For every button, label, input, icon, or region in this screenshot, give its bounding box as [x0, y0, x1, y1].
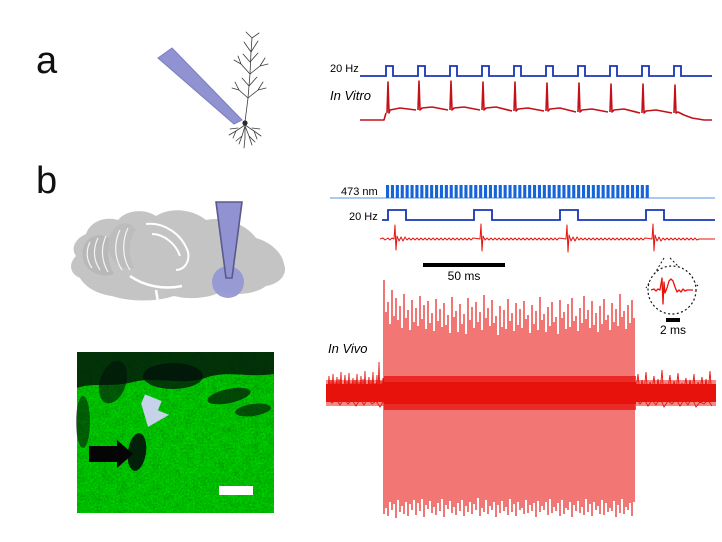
pyramidal-neuron-icon — [229, 32, 268, 148]
in-vivo-stimulus-trace — [382, 210, 715, 220]
panel-a-stim-label: 20 Hz — [330, 63, 359, 75]
in-vitro-stimulus-trace — [360, 66, 712, 76]
panel-b-brain-diagram — [60, 190, 295, 320]
spike-waveform-inset: 2 ms — [630, 252, 718, 338]
optical-fiber-icon — [158, 48, 242, 124]
panel-b-top-traces — [330, 182, 715, 260]
in-vitro-membrane-trace — [360, 81, 712, 120]
panel-a-traces — [360, 58, 712, 136]
panel-letter-b: b — [36, 162, 57, 200]
in-vivo-expanded-unit-trace — [380, 224, 715, 252]
panel-a-diagram — [150, 30, 300, 160]
micrograph-scale-bar — [219, 486, 253, 495]
inset-scale-bar — [666, 318, 680, 322]
fluorescence-micrograph — [77, 352, 274, 513]
panel-letter-a: a — [36, 42, 57, 80]
inset-scale-label: 2 ms — [660, 323, 686, 337]
laser-pulse-train-trace — [330, 185, 715, 198]
